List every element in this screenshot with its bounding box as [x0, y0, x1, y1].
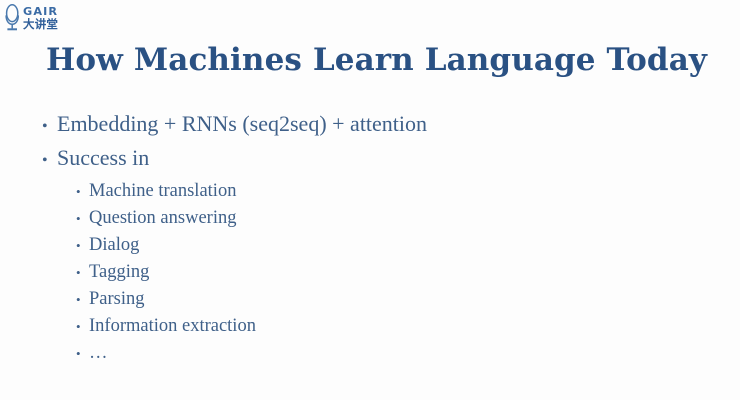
microphone-icon — [4, 4, 21, 32]
sub-bullet-text: Parsing — [89, 286, 145, 312]
bullet-marker-icon: • — [42, 145, 57, 176]
sub-bullet-item: • … — [76, 340, 682, 367]
sub-bullet-item: • Tagging — [76, 259, 682, 286]
bullet-text: Embedding + RNNs (seq2seq) + attention — [57, 108, 427, 139]
sub-bullet-item: • Dialog — [76, 232, 682, 259]
sub-bullet-item: • Question answering — [76, 205, 682, 232]
slide-body: • Embedding + RNNs (seq2seq) + attention… — [42, 108, 682, 367]
bullet-marker-icon: • — [76, 314, 89, 340]
sub-bullet-text: … — [89, 340, 108, 366]
bullet-marker-icon: • — [42, 111, 57, 142]
bullet-marker-icon: • — [76, 179, 89, 205]
brand-logo: GAIR 大讲堂 — [4, 3, 66, 33]
presentation-slide: GAIR 大讲堂 How Machines Learn Language Tod… — [0, 0, 740, 400]
bullet-marker-icon: • — [76, 341, 89, 367]
slide-title: How Machines Learn Language Today — [46, 41, 706, 79]
logo-wordmark: GAIR 大讲堂 — [23, 6, 58, 31]
bullet-text: Success in — [57, 142, 149, 173]
bullet-marker-icon: • — [76, 287, 89, 313]
logo-latin-text: GAIR — [23, 6, 59, 17]
sub-bullet-text: Information extraction — [89, 313, 256, 339]
bullet-item: • Embedding + RNNs (seq2seq) + attention — [42, 108, 682, 142]
sub-bullet-item: • Machine translation — [76, 178, 682, 205]
logo-chinese-text: 大讲堂 — [23, 19, 58, 31]
sub-bullet-text: Machine translation — [89, 178, 236, 204]
sub-bullet-text: Question answering — [89, 205, 236, 231]
sub-bullet-item: • Information extraction — [76, 313, 682, 340]
bullet-marker-icon: • — [76, 260, 89, 286]
sub-bullet-item: • Parsing — [76, 286, 682, 313]
bullet-marker-icon: • — [76, 233, 89, 259]
bullet-item: • Success in — [42, 142, 682, 176]
bullet-marker-icon: • — [76, 206, 89, 232]
sub-bullet-text: Tagging — [89, 259, 149, 285]
sub-bullet-text: Dialog — [89, 232, 139, 258]
